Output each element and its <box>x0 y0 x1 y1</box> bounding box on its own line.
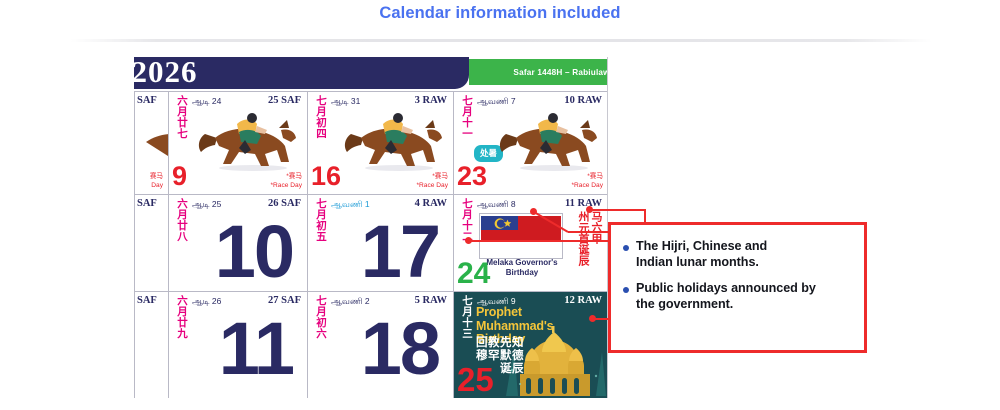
annotation-item: The Hijri, Chinese and Indian lunar mont… <box>623 239 854 270</box>
hijri-date-label: 10 RAW <box>564 95 602 106</box>
calendar-cell-day-9[interactable]: 六月廿七 ஆடி 24 25 SAF <box>168 91 307 194</box>
annotation-callout-box: The Hijri, Chinese and Indian lunar mont… <box>608 222 867 353</box>
chinese-lunar-date: 七月十一 <box>458 95 472 139</box>
day-number: 10 <box>215 215 293 289</box>
annotation-line2: Indian lunar months. <box>636 255 759 269</box>
race-day-note: *赛马 *Race Day <box>416 173 448 190</box>
race-day-note: 赛马 Day <box>150 173 163 190</box>
annotation-line1: The Hijri, Chinese and <box>636 239 767 253</box>
race-note-cn: *赛马 <box>587 173 603 180</box>
race-note-cn: *赛马 <box>286 173 302 180</box>
hijri-date-label: 27 SAF <box>268 295 301 306</box>
hijri-date-label: 3 RAW <box>415 95 447 106</box>
top-divider <box>70 39 932 42</box>
horse-racing-illustration <box>195 108 303 174</box>
callout-line-hijri-v <box>644 209 646 223</box>
holiday-name-line1: Prophet Muhammad's <box>476 305 553 333</box>
calendar-grid: SAF 赛马 Day 六月廿七 ஆடி 24 25 SAF <box>134 91 608 398</box>
hijri-date-label: 12 RAW <box>564 295 602 306</box>
horse-racing-illustration <box>138 112 168 172</box>
day-number: 9 <box>172 163 187 190</box>
chinese-lunar-date: 七月初六 <box>312 295 326 339</box>
page-root: Calendar information included UST 2026 S… <box>0 0 1000 410</box>
race-day-note: *赛马 *Race Day <box>571 173 603 190</box>
month-banner: UST 2026 <box>134 57 469 89</box>
chinese-lunar-date: 七月十二 <box>458 198 472 242</box>
day-number: 25 <box>457 363 494 396</box>
tamil-date-label: ஆடி 31 <box>331 96 360 108</box>
calendar-cell-day-25[interactable]: 七月十三 ஆவணி 9 12 RAW Prophet Muhammad's Bi… <box>453 291 608 398</box>
holiday-name-line1: Melaka Governor's <box>486 258 557 267</box>
holiday-name-line2: Birthday <box>506 268 538 277</box>
annotation-text: Public holidays announced by the governm… <box>636 281 816 312</box>
hijri-date-label: 25 SAF <box>268 95 301 106</box>
tamil-date-label: ஆவணி 8 <box>477 199 516 211</box>
tamil-date-label: ஆவணி 7 <box>477 96 516 108</box>
calendar-row: SAF 赛马 Day 六月廿七 ஆடி 24 25 SAF <box>134 91 608 194</box>
race-note-en: Day <box>151 182 163 189</box>
calendar-row: SAF 六月廿九 ஆடி 26 27 SAF 11 七月初六 ஆவணி 2 5 … <box>134 291 608 398</box>
calendar-cell-partial[interactable]: SAF 赛马 Day <box>134 91 168 194</box>
annotation-item: Public holidays announced by the governm… <box>623 281 854 312</box>
annotation-line1: Public holidays announced by <box>636 281 816 295</box>
horse-racing-illustration <box>341 108 449 174</box>
calendar-cell-day-11[interactable]: 六月廿九 ஆடி 26 27 SAF 11 <box>168 291 307 398</box>
hijri-date-label: SAF <box>137 95 157 106</box>
calendar-cell-partial[interactable]: SAF <box>134 194 168 291</box>
hijri-date-label: 4 RAW <box>415 198 447 209</box>
callout-line-tamil-diagonal <box>528 206 614 242</box>
chinese-lunar-date: 六月廿七 <box>173 95 187 139</box>
calendar-cell-day-16[interactable]: 七月初四 ஆடி 31 3 RAW <box>307 91 453 194</box>
race-note-en: *Race Day <box>416 182 448 189</box>
horse-racing-illustration <box>496 108 604 174</box>
race-note-cn: *赛马 <box>432 173 448 180</box>
day-number: 17 <box>361 215 439 289</box>
hijri-month-banner: Safar 1448H – Rabiulawal 1448H <box>469 59 608 85</box>
bullet-icon <box>623 245 629 251</box>
page-title: Calendar information included <box>0 4 1000 23</box>
chinese-lunar-date: 七月初五 <box>312 198 326 242</box>
day-number: 11 <box>219 312 293 386</box>
race-day-note: *赛马 *Race Day <box>270 173 302 190</box>
hijri-date-label: 5 RAW <box>415 295 447 306</box>
tamil-date-label: ஆடி 24 <box>192 96 221 108</box>
hijri-date-label: SAF <box>137 295 157 306</box>
tamil-date-label: ஆடி 26 <box>192 296 221 308</box>
chinese-lunar-date: 七月十三 <box>458 295 472 339</box>
calendar-cell-day-10[interactable]: 六月廿八 ஆடி 25 26 SAF 10 <box>168 194 307 291</box>
day-number: 16 <box>311 163 341 190</box>
calendar-cell-day-17[interactable]: 七月初五 ஆவணி 1 4 RAW 17 <box>307 194 453 291</box>
day-number: 18 <box>361 312 439 386</box>
race-note-en: *Race Day <box>571 182 603 189</box>
chinese-lunar-date: 七月初四 <box>312 95 326 139</box>
race-note-en: *Race Day <box>270 182 302 189</box>
calendar-cell-partial[interactable]: SAF <box>134 291 168 398</box>
annotation-line2: the government. <box>636 297 733 311</box>
day-number: 24 <box>457 259 490 289</box>
hijri-date-label: SAF <box>137 198 157 209</box>
chinese-lunar-date: 六月廿八 <box>173 198 187 242</box>
annotation-text: The Hijri, Chinese and Indian lunar mont… <box>636 239 767 270</box>
race-note-cn: 赛马 <box>150 173 163 180</box>
calendar-cell-day-18[interactable]: 七月初六 ஆவணி 2 5 RAW 18 <box>307 291 453 398</box>
chinese-lunar-date: 六月廿九 <box>173 295 187 339</box>
day-number: 23 <box>457 163 487 190</box>
bullet-icon <box>623 287 629 293</box>
calendar-cell-day-23[interactable]: 七月十一 ஆவணி 7 10 RAW 处暑 <box>453 91 608 194</box>
hijri-date-label: 26 SAF <box>268 198 301 209</box>
